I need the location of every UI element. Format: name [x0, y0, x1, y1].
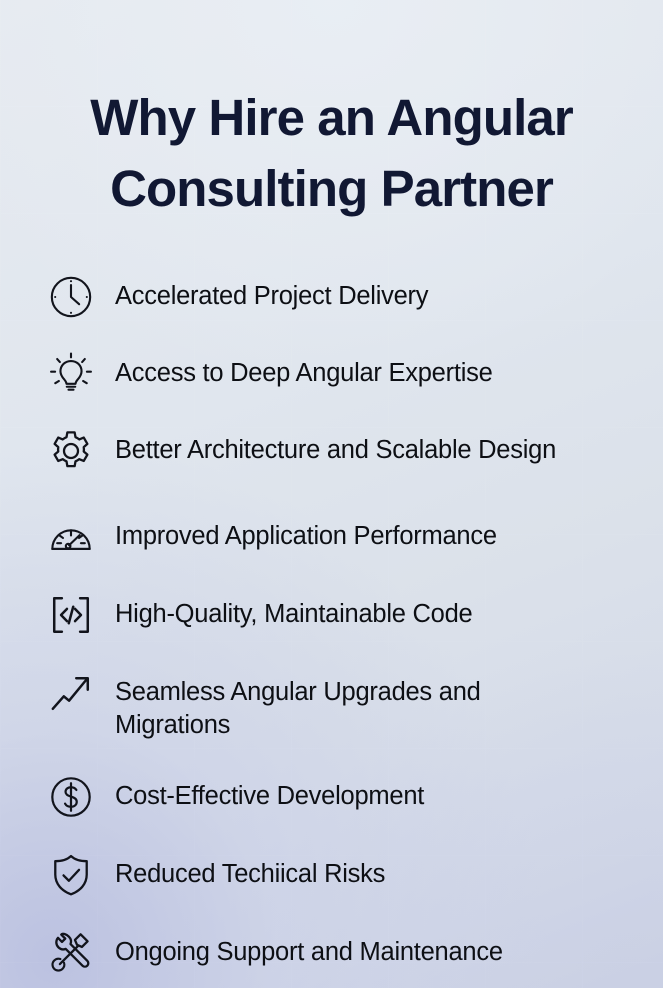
tools-icon: [47, 929, 95, 977]
list-item: Ongoing Support and Maintenance: [0, 928, 663, 984]
trending-up-icon: [47, 669, 95, 717]
list-item: Seamless Angular Upgrades and Migrations: [0, 668, 663, 742]
list-item-label: Cost-Effective Development: [115, 772, 424, 813]
list-item-label: Ongoing Support and Maintenance: [115, 928, 503, 969]
infographic-page: Why Hire an Angular Consulting Partner A…: [0, 0, 663, 988]
list-item: Cost-Effective Development: [0, 772, 663, 828]
list-item: High-Quality, Maintainable Code: [0, 590, 663, 646]
list-item-label: Accelerated Project Delivery: [115, 272, 428, 313]
list-item-label: High-Quality, Maintainable Code: [115, 590, 472, 631]
dollar-circle-icon: [47, 773, 95, 821]
list-item-label: Improved Application Performance: [115, 512, 497, 553]
clock-icon: [47, 273, 95, 321]
list-item-label: Reduced Techiical Risks: [115, 850, 385, 891]
list-item-label: Better Architecture and Scalable Design: [115, 426, 556, 467]
page-title: Why Hire an Angular Consulting Partner: [0, 82, 663, 225]
list-item: Accelerated Project Delivery: [0, 272, 663, 328]
lightbulb-icon: [47, 350, 95, 398]
shield-check-icon: [47, 851, 95, 899]
list-item: Better Architecture and Scalable Design: [0, 426, 663, 482]
gauge-icon: [47, 513, 95, 561]
code-brackets-icon: [47, 591, 95, 639]
list-item: Access to Deep Angular Expertise: [0, 349, 663, 405]
list-item-label: Seamless Angular Upgrades and Migrations: [115, 668, 585, 742]
list-item-label: Access to Deep Angular Expertise: [115, 349, 493, 390]
list-item: Reduced Techiical Risks: [0, 850, 663, 906]
benefits-list: Accelerated Project Delivery Access: [0, 272, 663, 984]
gear-icon: [47, 427, 95, 475]
list-item: Improved Application Performance: [0, 512, 663, 568]
